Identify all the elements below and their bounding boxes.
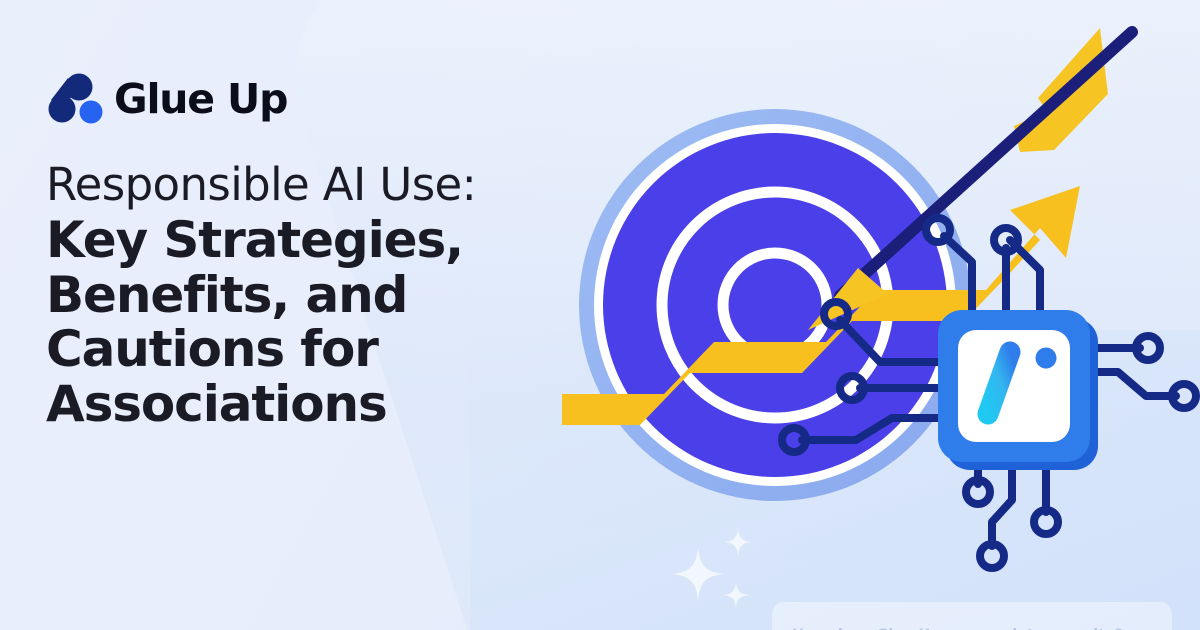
ai-target-growth-illustration	[540, 0, 1200, 630]
faq-question-sliver[interactable]: How does Glue Up ensure data security?	[772, 602, 1172, 630]
logo-accent-dot	[80, 101, 103, 124]
brand-wordmark: Glue Up	[114, 79, 287, 120]
poster-canvas: Glue Up Responsible AI Use: Key Strategi…	[0, 0, 1200, 630]
ai-chip[interactable]	[938, 310, 1098, 470]
headline-line-5: Associations	[46, 379, 566, 431]
brand-logo[interactable]: Glue Up	[46, 68, 566, 130]
headline-block: Responsible AI Use: Key Strategies, Bene…	[46, 162, 566, 430]
content-column: Glue Up Responsible AI Use: Key Strategi…	[46, 68, 566, 433]
ai-chip-label	[988, 348, 1057, 415]
headline-line-3: Benefits, and	[46, 270, 566, 322]
headline-line-4: Cautions for	[46, 324, 566, 376]
headline-line-1: Responsible AI Use:	[46, 162, 566, 208]
glueup-molecule-logo-icon	[46, 73, 104, 125]
headline-line-2: Key Strategies,	[46, 215, 566, 267]
sparkle-accents	[672, 528, 752, 608]
